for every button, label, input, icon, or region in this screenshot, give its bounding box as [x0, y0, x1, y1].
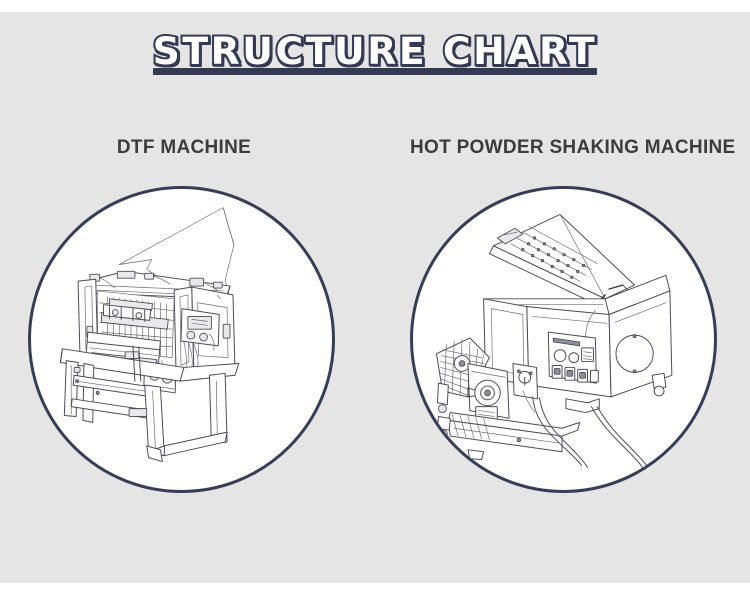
conveyor-frame: [448, 413, 579, 460]
page-title: STRUCTURE CHART: [0, 28, 750, 76]
dtf-printer-line-drawing: [31, 189, 332, 490]
section-caption-hot-powder-shaking-machine: HOT POWDER SHAKING MACHINE: [410, 137, 724, 159]
section-caption-dtf-machine: DTF MACHINE: [34, 137, 334, 159]
page-title-text: STRUCTURE CHART: [153, 28, 598, 76]
machine-stand: [60, 349, 238, 462]
structure-chart-page: STRUCTURE CHART DTF MACHINE HOT POWDER S…: [0, 0, 750, 607]
rotary-switch-box: [513, 364, 538, 399]
machine-lid: [489, 214, 634, 306]
illustration-circle-dtf-machine: [28, 186, 335, 493]
roller-brackets: [438, 383, 451, 438]
illustration-circle-hot-powder-shaking-machine: [410, 186, 717, 493]
powder-shaker-line-drawing: [413, 189, 714, 490]
page-title-inner: STRUCTURE CHART: [157, 28, 593, 76]
motor-housing: [468, 364, 509, 421]
